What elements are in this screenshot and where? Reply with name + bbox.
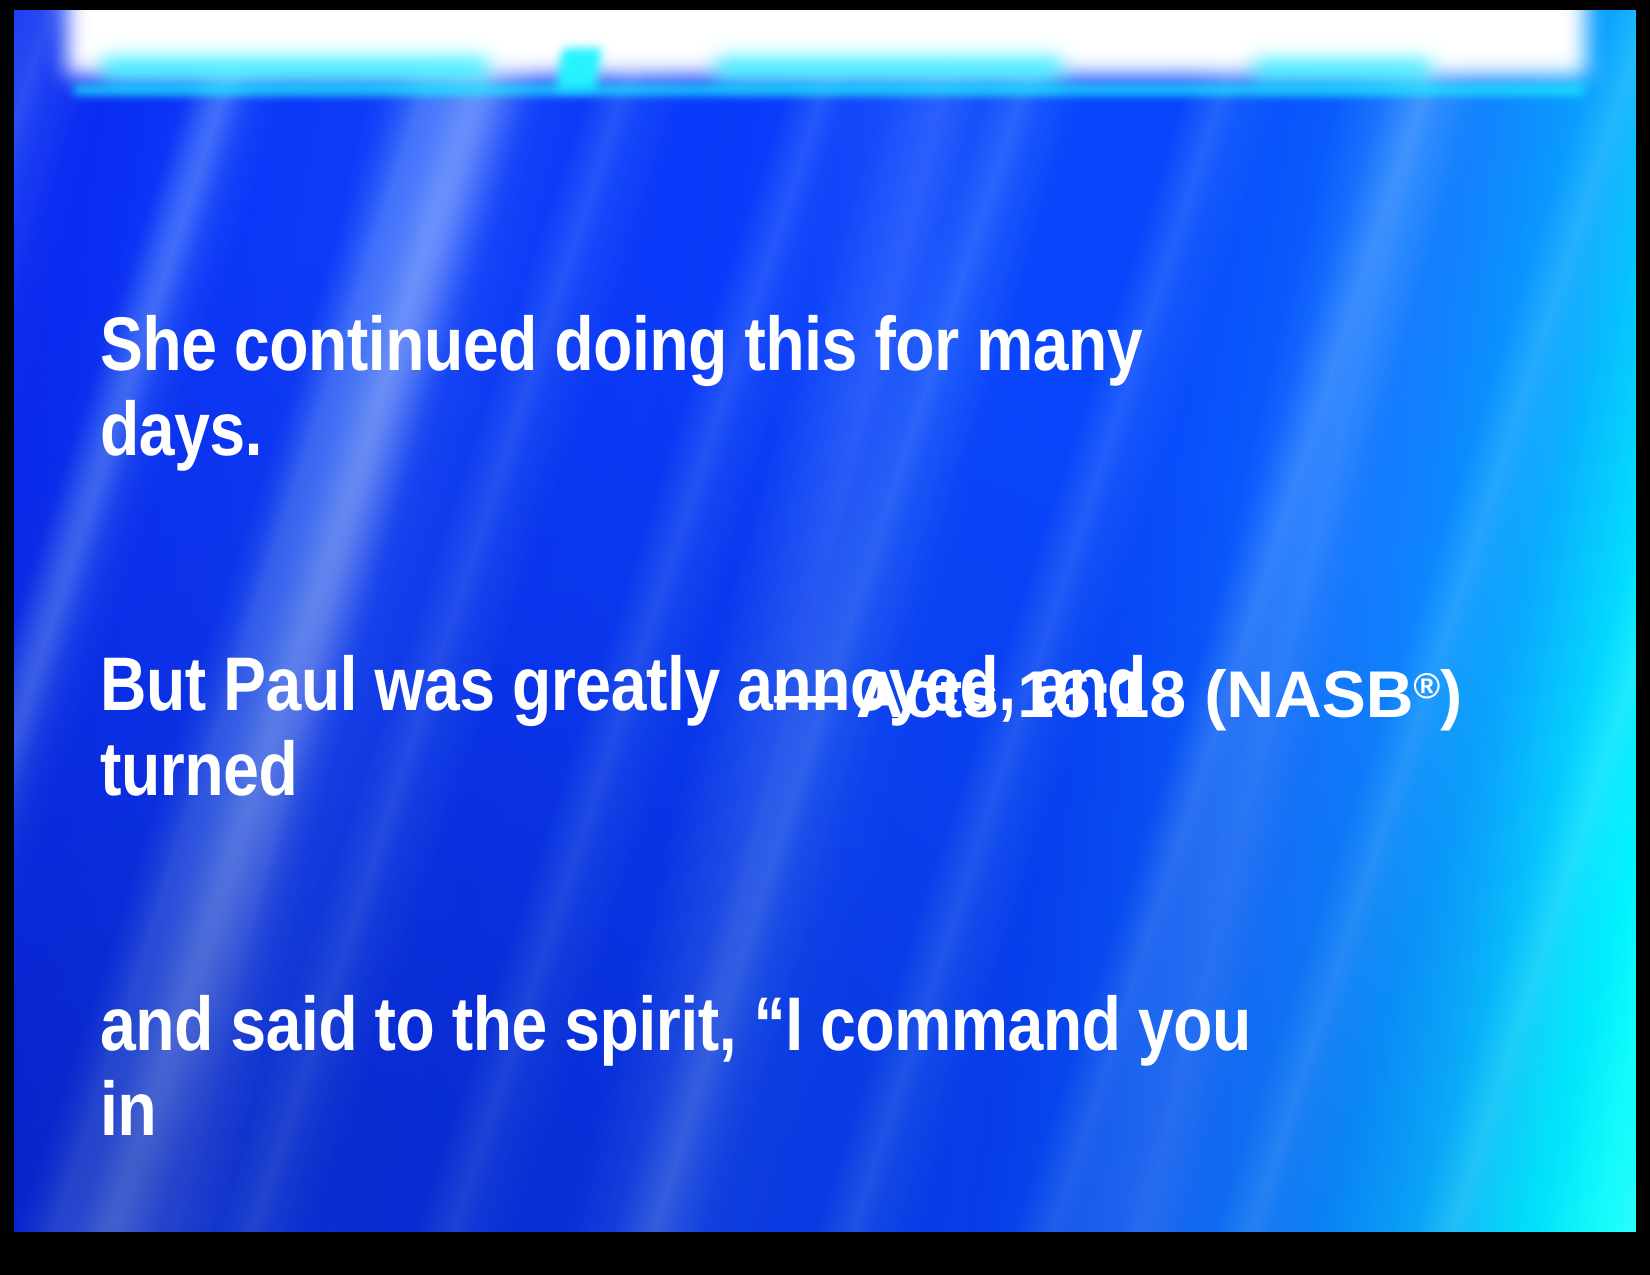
verse-attribution: — Acts 16:18 (NASB®) — [774, 648, 1462, 732]
top-glow-streak-mid — [714, 58, 1064, 80]
top-glow-band — [14, 10, 1636, 130]
attribution-reference: — Acts 16:18 (NASB — [774, 657, 1413, 731]
verse-slide: She continued doing this for many days. … — [0, 0, 1650, 1275]
registered-trademark-icon: ® — [1413, 665, 1440, 706]
top-glow-streak-left — [100, 58, 490, 80]
verse-line-3: and said to the spirit, “I command you i… — [100, 982, 1300, 1152]
top-glow-notch — [556, 48, 602, 90]
verse-line-1: She continued doing this for many days. — [100, 302, 1300, 472]
top-glow-streak-right — [1252, 60, 1432, 80]
top-glow-underline — [74, 86, 1584, 94]
slide-canvas: She continued doing this for many days. … — [14, 10, 1636, 1232]
attribution-close-paren: ) — [1440, 657, 1462, 731]
